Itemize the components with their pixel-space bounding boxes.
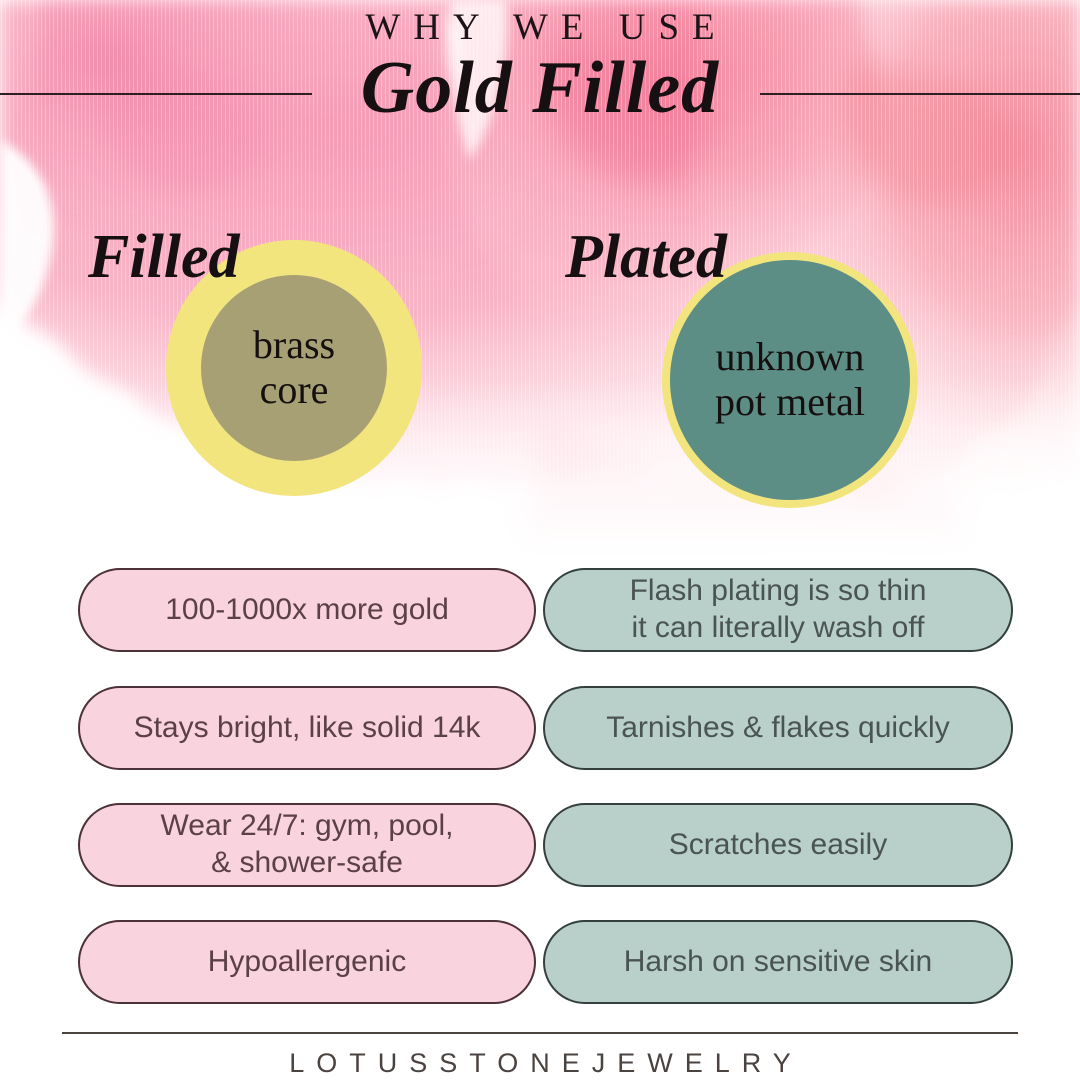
infographic-poster: WHY WE USE Gold Filled Filled brasscore … [0, 0, 1080, 1080]
pill-plated-drawback[interactable]: Tarnishes & flakes quickly [543, 686, 1013, 770]
pill-filled-benefit[interactable]: Wear 24/7: gym, pool,& shower-safe [78, 803, 536, 887]
plated-core-label: unknownpot metal [709, 335, 871, 425]
pill-filled-benefit[interactable]: Stays bright, like solid 14k [78, 686, 536, 770]
column-label-plated: Plated [565, 222, 727, 293]
pill-plated-drawback[interactable]: Scratches easily [543, 803, 1013, 887]
pill-filled-benefit[interactable]: 100-1000x more gold [78, 568, 536, 652]
footer-divider [62, 1032, 1018, 1034]
column-label-filled: Filled [88, 222, 240, 293]
page-title-kicker: WHY WE USE [0, 8, 1080, 49]
pill-filled-benefit[interactable]: Hypoallergenic [78, 920, 536, 1004]
filled-core-label: brasscore [247, 323, 341, 413]
brand-wordmark: LOTUSSTONEJEWELRY [0, 1048, 1080, 1079]
plated-core-circle: unknownpot metal [670, 260, 910, 500]
pill-plated-drawback[interactable]: Harsh on sensitive skin [543, 920, 1013, 1004]
filled-core-circle: brasscore [201, 275, 387, 461]
pill-plated-drawback[interactable]: Flash plating is so thinit can literally… [543, 568, 1013, 652]
page-title: Gold Filled [0, 48, 1080, 129]
